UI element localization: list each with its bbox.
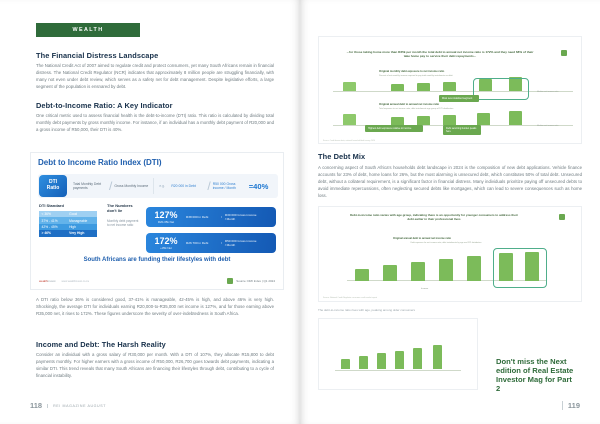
formula-numerator: Total Monthly Debt payments: [73, 182, 107, 191]
chart-top-title: ...for those taking home more than R35k …: [345, 50, 535, 58]
bar: [439, 259, 453, 281]
paragraph-2: One critical metric used to assess finan…: [36, 112, 274, 133]
chart-mid-bars: Income: [341, 251, 571, 291]
dti-footer: wealthinvest www.wealthinvest.co.za Sour…: [39, 278, 275, 284]
section-tab-wealth: WEALTH: [36, 23, 140, 37]
dti-infographic: Debt to Income Ratio Index (DTI) DTI Rat…: [30, 152, 284, 290]
chart-bottom-bars: [333, 345, 465, 379]
brand-suffix: invest: [48, 279, 56, 283]
bar: [443, 82, 456, 91]
dti-standard-header: DTI Standard: [39, 203, 64, 208]
brand-url: www.wealthinvest.co.za: [62, 280, 89, 283]
stat-1-sub: +35k Net: [146, 247, 186, 250]
bar: [509, 111, 522, 125]
stat-0-value: 127%: [154, 210, 177, 220]
bar: [467, 256, 481, 281]
bar: [343, 114, 356, 125]
footer-left: 118 REI MAGAZINE AUGUST: [30, 401, 106, 410]
callout-2: Highest debt exposure relative to income: [365, 125, 423, 132]
chart-slide-bottom: [318, 318, 478, 390]
bar: [417, 116, 430, 125]
bar: [391, 117, 404, 125]
bar: [359, 356, 368, 369]
chart-mid-title: Debt-to-income ratio varies with age gro…: [349, 213, 519, 221]
bar: [341, 359, 350, 369]
bar: [395, 351, 404, 369]
bar: [477, 113, 490, 125]
paragraph-3: A DTI ratio below 36% is considered good…: [36, 296, 274, 317]
heading-financial-distress-landscape: The Financial Distress Landscape: [36, 51, 274, 60]
stat-1-fraction: R26 700 in Debt / R50 000 Gross income /…: [186, 239, 257, 247]
page-number-right: 119: [562, 401, 580, 410]
dti-formula: Total Monthly Debt payments / Gross Mont…: [73, 179, 148, 193]
chart-top-footnote: Source: Credit bureau data, national hou…: [323, 140, 375, 142]
stat-1-slash-icon: /: [221, 241, 222, 245]
bar: [391, 84, 404, 91]
chart-mid-sub-title: Original annual debt to annual net incom…: [393, 237, 451, 240]
dti-source: Source: DMI Index | Q1 2024: [227, 278, 275, 284]
paragraph-1: The National Credit Act of 2007 aimed to…: [36, 62, 274, 90]
chart-top-sub1-title: Original monthly debt exposure to net in…: [379, 70, 444, 73]
numbers-header: The Numbers don't lie: [107, 203, 141, 213]
stat-0-denominator: R30 000 Gross income / Month: [225, 213, 257, 221]
example-numerator: R20 000 in Debt: [171, 184, 205, 188]
bar: [413, 348, 422, 369]
magazine-label: REI MAGAZINE AUGUST: [47, 404, 106, 408]
example-denominator: R50 000 Gross income / Month: [213, 182, 247, 191]
fraction-slash-icon: /: [109, 179, 112, 193]
std-label-3: Very High: [67, 230, 97, 236]
stat-0-sub: R20-35k Net: [146, 221, 186, 224]
stat-card-172: 172% +35k Net R26 700 in Debt / R50 000 …: [146, 233, 276, 253]
right-paragraph-1: A concerning aspect of South Africa's ho…: [318, 164, 582, 199]
leaf-icon: [227, 278, 233, 284]
promo-next-edition: Don't miss the Next edition of Real Esta…: [496, 358, 578, 394]
dti-graphic-title: Debt to Income Ratio Index (DTI): [38, 158, 162, 167]
bar: [411, 262, 425, 281]
bar: [377, 353, 386, 369]
stat-card-127: 127% R20-35k Net R38 000 in Debt / R30 0…: [146, 207, 276, 227]
chart-mid-sub-note: Debt exposure for net income ratio, debt…: [381, 242, 511, 244]
example-slash-icon: /: [207, 179, 210, 193]
callout-3: Debt servicing burden peaks here: [443, 125, 481, 135]
example-tag: e.g.: [159, 184, 169, 188]
bar: [355, 269, 369, 281]
dti-badge-line2: Ratio: [47, 186, 60, 192]
highlight-box: [473, 78, 529, 100]
callout-1: Most over-indebted segment: [439, 95, 479, 102]
divider: [153, 178, 154, 194]
stat-1-percent: 172% +35k Net: [146, 237, 186, 250]
footer-right: 119: [562, 401, 580, 410]
paragraph-4: Consider an individual with a gross sala…: [36, 351, 274, 379]
numbers-subtext: Monthly debt payment to net income ratio: [107, 219, 141, 228]
magazine-spread: WEALTH The Financial Distress Landscape …: [0, 0, 600, 424]
chart-slide-top: ...for those taking home more than R35k …: [318, 36, 582, 144]
stat-0-numerator: R38 000 in Debt: [186, 215, 218, 219]
dti-tagline: South Africans are funding their lifesty…: [31, 257, 283, 263]
dti-example: e.g. R20 000 in Debt / R50 000 Gross inc…: [159, 179, 268, 193]
leaf-icon: [559, 214, 565, 220]
stat-1-denominator: R50 000 Gross income / Month: [225, 239, 257, 247]
chart-top-note-2: Median net income ratio: [537, 125, 558, 127]
table-row: > 46% Very High: [39, 230, 97, 236]
dti-ratio-badge: DTI Ratio: [39, 175, 67, 197]
heading-the-debt-mix: The Debt Mix: [318, 152, 365, 161]
brand-name: wealth: [39, 279, 48, 283]
left-page: WEALTH The Financial Distress Landscape …: [0, 0, 300, 424]
example-equals: =40%: [249, 182, 269, 191]
bar: [383, 265, 397, 281]
dti-standard-table: < 36% Good 37% - 41% Manageable 42% - 45…: [39, 211, 97, 237]
chart-top-sub2-title: Original annual debt to annual net incom…: [379, 103, 439, 106]
chart-mid-caption: The debt-to-income ratio rises with age,…: [318, 308, 478, 312]
std-range-3: > 46%: [39, 230, 67, 236]
page-number-left: 118: [30, 401, 42, 410]
bar: [343, 82, 356, 91]
formula-denominator: Gross Monthly Income: [114, 184, 148, 188]
heading-debt-to-income-ratio: Debt-to-Income Ratio: A Key Indicator: [36, 101, 274, 110]
bar: [443, 115, 456, 125]
chart-slide-mid: Debt-to-income ratio varies with age gro…: [318, 206, 582, 302]
stat-1-numerator: R26 700 in Debt: [186, 241, 218, 245]
stat-1-value: 172%: [154, 236, 177, 246]
chart-mid-footnote: Source: National Credit Regulator consum…: [323, 297, 377, 299]
highlight-box: [493, 248, 547, 288]
right-page: ...for those taking home more than R35k …: [300, 0, 600, 424]
chart-mid-xlabel: Income: [421, 288, 428, 290]
chart-top-sub2-note: Total exposure to net income ratio, debt…: [379, 108, 499, 110]
brand-logo: wealthinvest: [39, 279, 56, 283]
heading-income-and-debt: Income and Debt: The Harsh Reality: [36, 340, 274, 349]
leaf-icon: [561, 50, 567, 56]
bar: [433, 345, 442, 369]
source-text: Source: DMI Index | Q1 2024: [236, 279, 275, 283]
chart-top-sub1-note: Percent of net monthly income required t…: [379, 75, 499, 77]
chart-top-note-1: Median net income ratio: [537, 91, 558, 93]
stat-0-fraction: R38 000 in Debt / R30 000 Gross income /…: [186, 213, 257, 221]
stat-0-slash-icon: /: [221, 215, 222, 219]
stat-0-percent: 127% R20-35k Net: [146, 211, 186, 224]
dti-formula-row: DTI Ratio Total Monthly Debt payments / …: [38, 174, 278, 198]
bar: [417, 83, 430, 91]
